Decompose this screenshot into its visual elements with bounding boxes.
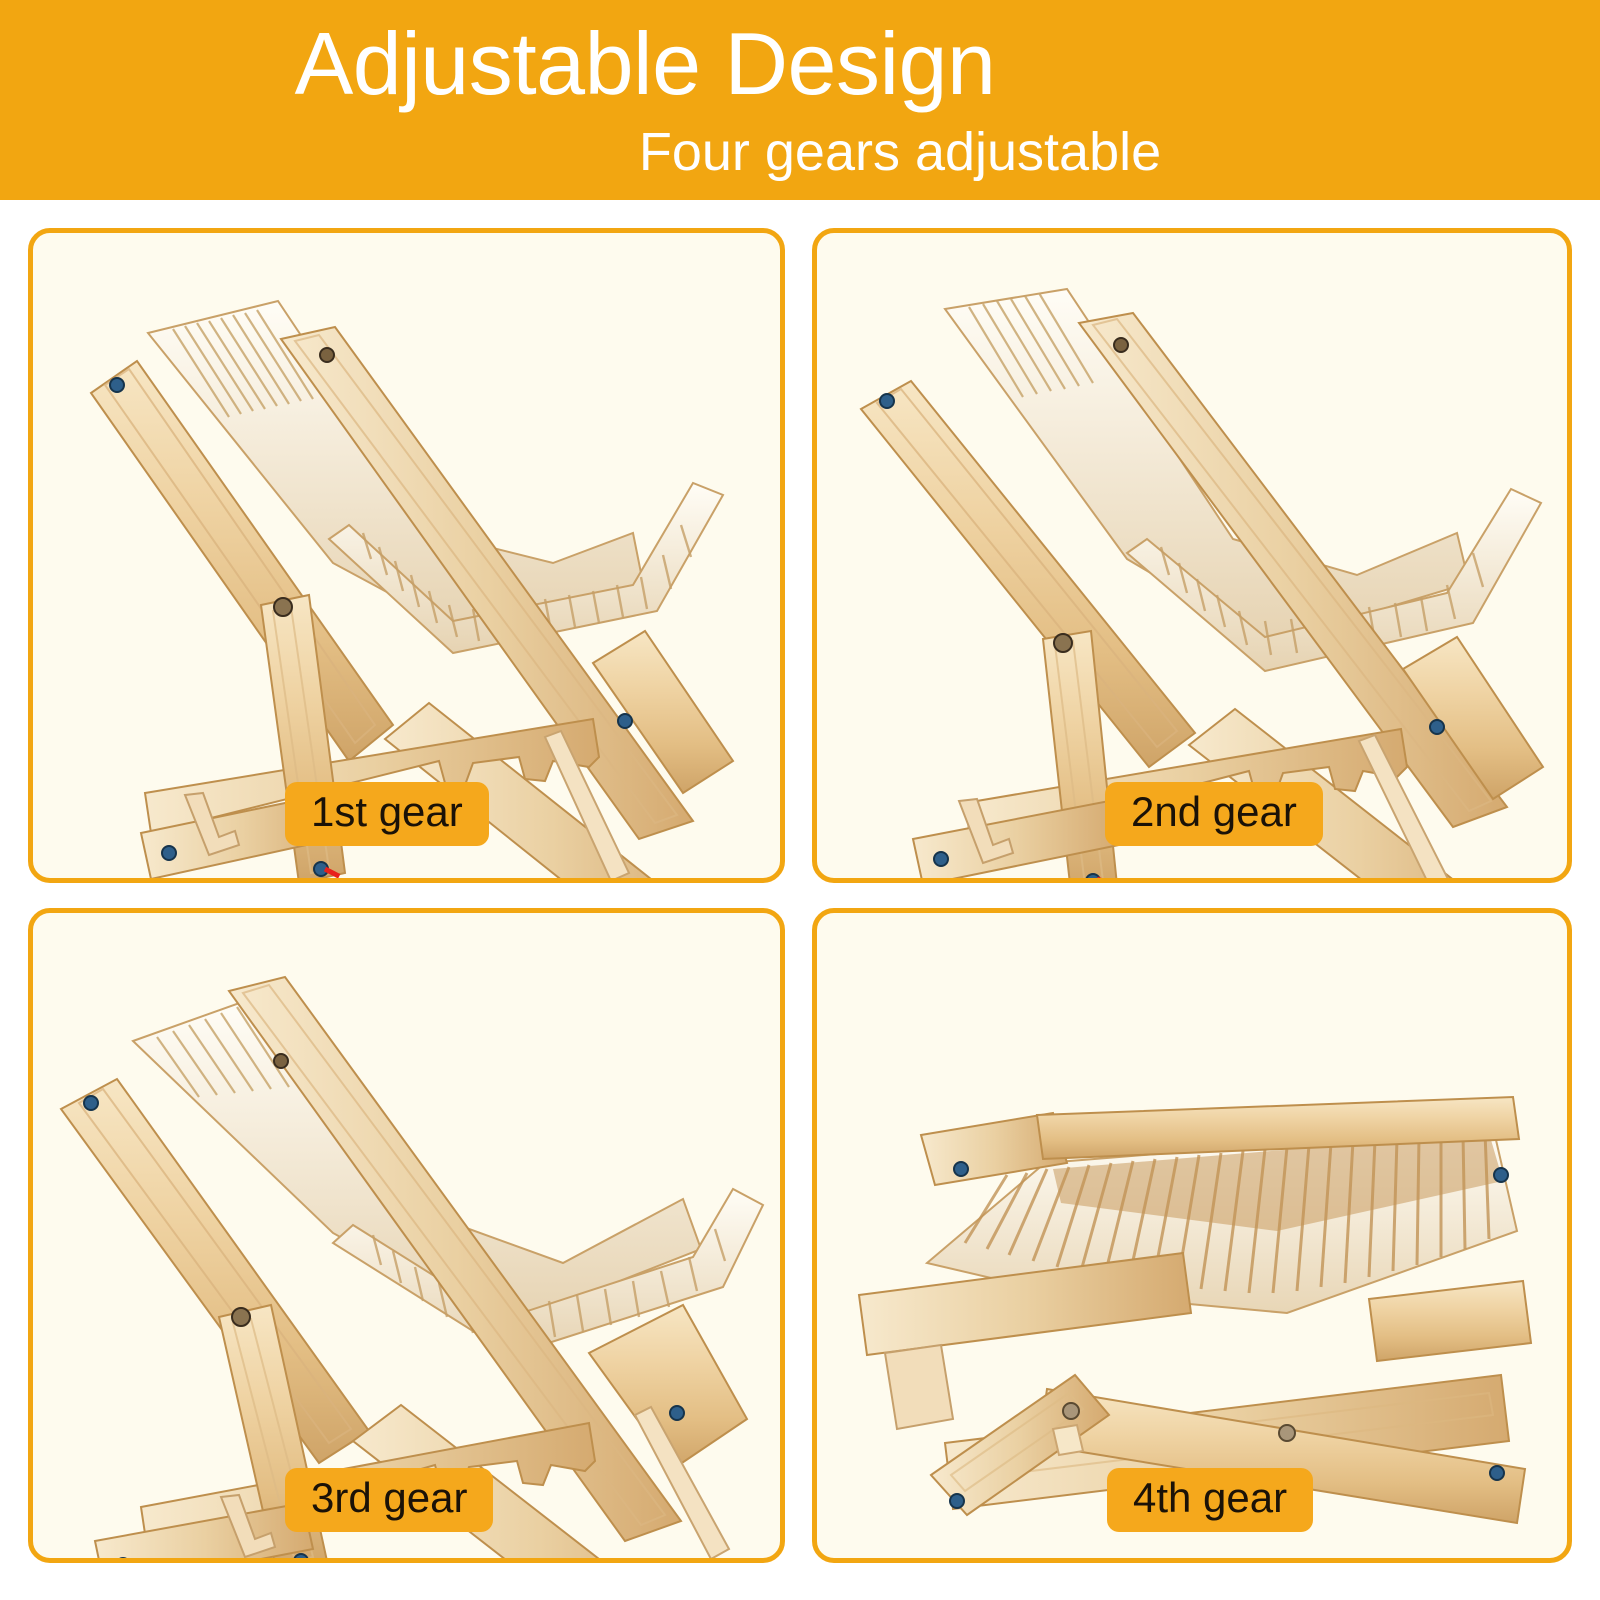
notch-hint	[1053, 1425, 1083, 1455]
angle-dashed-line	[325, 869, 523, 878]
page-subtitle: Four gears adjustable	[0, 124, 1600, 181]
gear-label-1: 1st gear	[285, 782, 489, 846]
panel-grid: 1st gear	[0, 200, 1600, 1600]
gear-panel-4[interactable]: 4th gear	[812, 908, 1572, 1563]
header-banner: Adjustable Design Four gears adjustable	[0, 0, 1600, 200]
infographic-root: Adjustable Design Four gears adjustable	[0, 0, 1600, 1600]
gear-panel-1[interactable]: 1st gear	[28, 228, 785, 883]
chair-illustration-4	[817, 913, 1567, 1558]
gear-label-2: 2nd gear	[1105, 782, 1323, 846]
gear-label-3: 3rd gear	[285, 1468, 493, 1532]
gear-panel-3[interactable]: 3rd gear	[28, 908, 785, 1563]
gear-label-4: 4th gear	[1107, 1468, 1313, 1532]
side-rail-right	[1369, 1281, 1531, 1361]
chair-illustration-3	[33, 913, 780, 1558]
stub-bracket-left	[885, 1345, 953, 1429]
page-title: Adjustable Design	[0, 18, 1290, 110]
gear-panel-2[interactable]: 2nd gear	[812, 228, 1572, 883]
